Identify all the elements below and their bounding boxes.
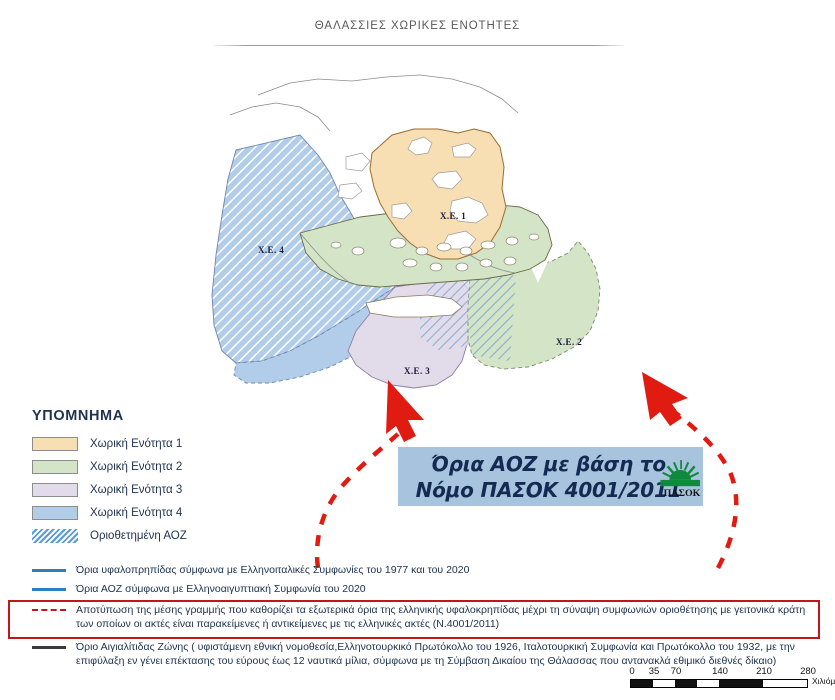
scale-tick-35: 35	[649, 666, 660, 677]
title-divider	[214, 45, 624, 46]
legend-item-zone-4[interactable]: Χωρική Ενότητα 4	[32, 502, 332, 523]
callout-text: Όρια ΑΟΖ με βάση το Νόμο ΠΑΣΟΚ 4001/2011	[416, 451, 686, 503]
line-legend-item-eez-egypt[interactable]: Όρια ΑΟΖ σύμφωνα με Ελληνοαιγυπτιακή Συμ…	[32, 582, 822, 596]
legend-swatch-zone-4	[32, 506, 78, 520]
legend-label-zone-1: Χωρική Ενότητα 1	[90, 438, 182, 450]
scale-tick-210: 210	[756, 666, 772, 677]
legend-label-delimited-eez: Οριοθετημένη ΑΟΖ	[90, 530, 187, 542]
callout-line-1: Όρια ΑΟΖ με βάση το	[431, 452, 666, 476]
line-legend-label-territorial-sea: Όριο Αιγιαλίτιδας Ζώνης ( υφιστάμενη εθν…	[76, 640, 822, 668]
pasok-sun-logo-icon: ΠΑΣΟΚ	[655, 458, 709, 500]
zone-label-xe4: Χ.Ε. 4	[258, 245, 284, 255]
median-line-highlight-box	[8, 600, 820, 639]
scale-tick-140: 140	[712, 666, 728, 677]
legend-item-zone-1[interactable]: Χωρική Ενότητα 1	[32, 433, 332, 454]
pasok-logo-label: ΠΑΣΟΚ	[664, 488, 701, 499]
zone-label-xe2: Χ.Ε. 2	[556, 337, 582, 347]
line-legend-label-shelf-italy: Όρια υφαλοπρηπίδας σύμφωνα με Ελληνοιταλ…	[76, 563, 469, 577]
legend-label-zone-4: Χωρική Ενότητα 4	[90, 507, 182, 519]
map-canvas[interactable]: Χ.Ε. 1 Χ.Ε. 2 Χ.Ε. 3 Χ.Ε. 4	[0, 55, 835, 400]
scale-bar-graphic	[630, 679, 808, 688]
scale-bar-ticks: 0 35 70 140 210 280	[630, 666, 830, 679]
scale-tick-0: 0	[629, 666, 634, 677]
line-key-solid-blue-icon	[32, 563, 68, 572]
callout-line-2: Νόμο ΠΑΣΟΚ 4001/2011	[416, 478, 682, 502]
line-key-solid-dark-icon	[32, 640, 68, 649]
legend-item-zone-3[interactable]: Χωρική Ενότητα 3	[32, 479, 332, 500]
legend-swatch-zone-3	[32, 483, 78, 497]
line-legend-item-shelf-italy[interactable]: Όρια υφαλοπρηπίδας σύμφωνα με Ελληνοιταλ…	[32, 563, 822, 577]
scale-tick-70: 70	[671, 666, 682, 677]
line-legend-item-territorial-sea[interactable]: Όριο Αιγιαλίτιδας Ζώνης ( υφιστάμενη εθν…	[32, 640, 822, 668]
zone-label-xe1: Χ.Ε. 1	[440, 211, 466, 221]
zone-label-xe3: Χ.Ε. 3	[404, 366, 430, 376]
line-key-solid-blue-icon-2	[32, 582, 68, 591]
legend-swatch-zone-2	[32, 460, 78, 474]
legend-swatch-hatch-icon	[32, 529, 78, 543]
legend-item-zone-2[interactable]: Χωρική Ενότητα 2	[32, 456, 332, 477]
line-legend-label-eez-egypt: Όρια ΑΟΖ σύμφωνα με Ελληνοαιγυπτιακή Συμ…	[76, 582, 366, 596]
scale-bar-unit: Χιλιόμετρα	[812, 676, 835, 686]
legend-label-zone-2: Χωρική Ενότητα 2	[90, 461, 182, 473]
scale-bar: 0 35 70 140 210 280 Χιλιόμετρα	[630, 666, 830, 688]
page-title: ΘΑΛΑΣΣΙΕΣ ΧΩΡΙΚΕΣ ΕΝΟΤΗΤΕΣ	[0, 20, 835, 32]
legend-swatch-zone-1	[32, 437, 78, 451]
callout-box[interactable]: Όρια ΑΟΖ με βάση το Νόμο ΠΑΣΟΚ 4001/2011…	[398, 447, 703, 506]
legend-label-zone-3: Χωρική Ενότητα 3	[90, 484, 182, 496]
legend-title: ΥΠΟΜΝΗΜΑ	[32, 408, 332, 424]
legend-panel: ΥΠΟΜΝΗΜΑ Χωρική Ενότητα 1 Χωρική Ενότητα…	[32, 408, 332, 548]
legend-item-delimited-eez[interactable]: Οριοθετημένη ΑΟΖ	[32, 525, 332, 546]
